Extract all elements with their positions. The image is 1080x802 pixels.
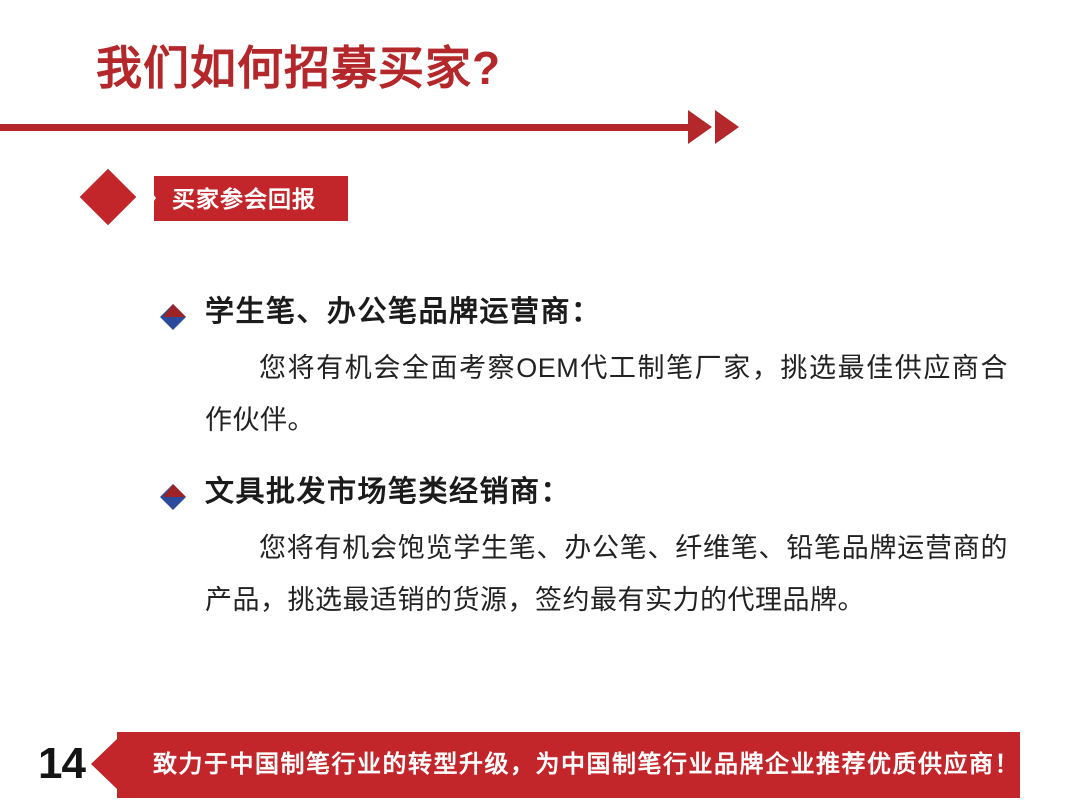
page-number: 14 — [38, 738, 85, 790]
block-heading-text: 文具批发市场笔类经销商： — [205, 476, 571, 508]
arrow-right-icon-2 — [715, 110, 739, 144]
diamond-bullet-icon — [160, 299, 186, 325]
diamond-shape-icon — [80, 169, 137, 226]
block-body-text: 您将有机会全面考察OEM代工制笔厂家，挑选最佳供应商合作伙伴。 — [0, 342, 1080, 446]
section-tag: 买家参会回报 — [88, 170, 358, 240]
section-tag-label: 买家参会回报 — [172, 185, 316, 213]
footer: 14 致力于中国制笔行业的转型升级，为中国制笔行业品牌企业推荐优质供应商！ — [0, 730, 1080, 802]
footer-banner-text: 致力于中国制笔行业的转型升级，为中国制笔行业品牌企业推荐优质供应商！ — [153, 750, 1020, 780]
page-title: 我们如何招募买家? — [96, 42, 501, 95]
block-heading-text: 学生笔、办公笔品牌运营商： — [205, 296, 602, 328]
tag-notch-icon — [140, 176, 156, 220]
content-area: 学生笔、办公笔品牌运营商： 您将有机会全面考察OEM代工制笔厂家，挑选最佳供应商… — [0, 290, 1080, 650]
arrow-left-icon — [91, 739, 117, 789]
block-heading-row: 文具批发市场笔类经销商： — [0, 470, 1080, 514]
content-block: 学生笔、办公笔品牌运营商： 您将有机会全面考察OEM代工制笔厂家，挑选最佳供应商… — [0, 290, 1080, 446]
slide-root: 我们如何招募买家? 买家参会回报 学生笔、办公笔品牌运营商： 您将有机会全面考察… — [0, 0, 1080, 802]
arrow-right-icon-1 — [688, 110, 712, 144]
block-body-text: 您将有机会饱览学生笔、办公笔、纤维笔、铅笔品牌运营商的产品，挑选最适销的货源，签… — [0, 522, 1080, 626]
header-divider-line — [0, 124, 700, 131]
content-block: 文具批发市场笔类经销商： 您将有机会饱览学生笔、办公笔、纤维笔、铅笔品牌运营商的… — [0, 470, 1080, 626]
block-heading-row: 学生笔、办公笔品牌运营商： — [0, 290, 1080, 334]
diamond-bullet-icon — [160, 479, 186, 505]
